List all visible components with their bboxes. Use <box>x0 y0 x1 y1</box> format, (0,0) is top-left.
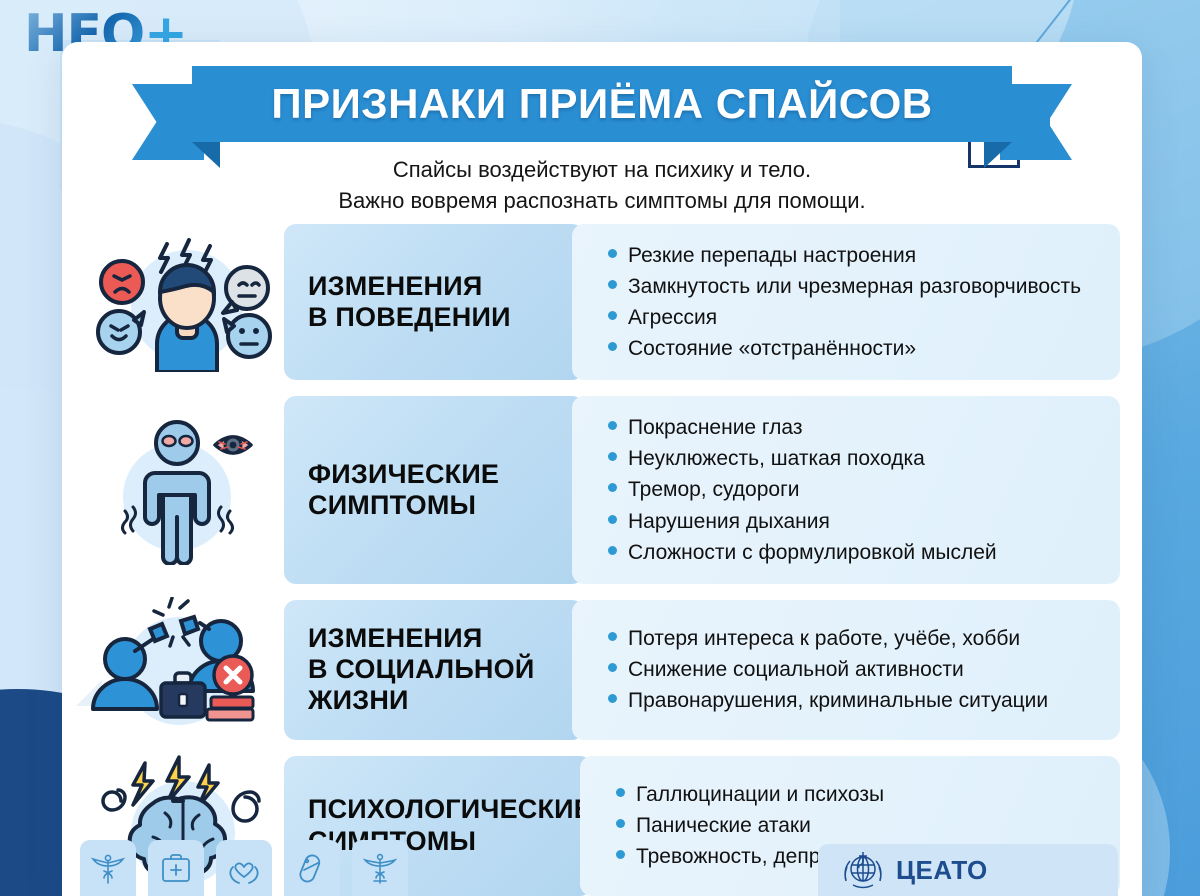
bullet-item: Покраснение глаз <box>608 412 1102 443</box>
bullet-item: Агрессия <box>608 302 1102 333</box>
bullet-text: Снижение социальной активности <box>628 654 964 685</box>
bullet-dot-icon <box>616 819 625 828</box>
bullet-dot-icon <box>608 342 617 351</box>
bullet-item: Состояние «отстранённости» <box>608 333 1102 364</box>
section-label-text: ФИЗИЧЕСКИЕ СИМПТОМЫ <box>308 459 499 522</box>
sections-list: ИЗМЕНЕНИЯ В ПОВЕДЕНИИ Резкие перепады на… <box>84 224 1120 896</box>
bullet-item: Нарушения дыхания <box>608 506 1102 537</box>
bullet-dot-icon <box>608 421 617 430</box>
bullet-dot-icon <box>608 694 617 703</box>
trembling-body-red-eyes-icon <box>84 420 284 560</box>
title-ribbon-wrap: ПРИЗНАКИ ПРИЁМА СПАЙСОВ <box>62 66 1142 142</box>
bullet-text: Правонарушения, криминальные ситуации <box>628 685 1048 716</box>
page-subtitle: Спайсы воздействуют на психику и тело. В… <box>62 154 1142 216</box>
first-aid-kit-icon <box>148 840 204 896</box>
broken-social-ties-icon <box>84 600 284 740</box>
bullet-dot-icon <box>616 788 625 797</box>
bullet-dot-icon <box>608 483 617 492</box>
bullet-dot-icon <box>608 311 617 320</box>
card-footer: ЦЕАТО <box>62 834 1142 896</box>
caduceus-wings-icon <box>352 840 408 896</box>
bullet-text: Агрессия <box>628 302 717 333</box>
caduceus-icon <box>80 840 136 896</box>
infographic-card: ПРИЗНАКИ ПРИЁМА СПАЙСОВ Спайсы воздейств… <box>62 42 1142 896</box>
section-label-text: ИЗМЕНЕНИЯ В СОЦИАЛЬНОЙ ЖИЗНИ <box>308 623 534 717</box>
section-label: ФИЗИЧЕСКИЕ СИМПТОМЫ <box>284 396 584 583</box>
mood-swings-icon <box>84 232 284 372</box>
bullet-item: Сложности с формулировкой мыслей <box>608 537 1102 568</box>
section-row: ИЗМЕНЕНИЯ В СОЦИАЛЬНОЙ ЖИЗНИ Потеря инте… <box>84 600 1120 740</box>
section-row: ИЗМЕНЕНИЯ В ПОВЕДЕНИИ Резкие перепады на… <box>84 224 1120 380</box>
bullet-text: Тремор, судороги <box>628 474 799 505</box>
bullet-dot-icon <box>608 632 617 641</box>
section-bullets: Покраснение глаз Неуклюжесть, шаткая пох… <box>572 396 1120 583</box>
who-brand: ЦЕАТО <box>818 844 1118 896</box>
section-bullets: Потеря интереса к работе, учёбе, хобби С… <box>572 600 1120 740</box>
bullet-text: Неуклюжесть, шаткая походка <box>628 443 925 474</box>
subtitle-line-2: Важно вовремя распознать симптомы для по… <box>62 185 1142 216</box>
bullet-dot-icon <box>608 452 617 461</box>
bullet-item: Потеря интереса к работе, учёбе, хобби <box>608 623 1102 654</box>
bullet-text: Сложности с формулировкой мыслей <box>628 537 997 568</box>
bullet-item: Резкие перепады настроения <box>608 240 1102 271</box>
bullet-item: Снижение социальной активности <box>608 654 1102 685</box>
bullet-item: Тремор, судороги <box>608 474 1102 505</box>
footer-icon-strip <box>80 840 408 896</box>
bullet-text: Покраснение глаз <box>628 412 802 443</box>
subtitle-line-1: Спайсы воздействуют на психику и тело. <box>62 154 1142 185</box>
bullet-dot-icon <box>608 249 617 258</box>
bullet-item: Галлюцинации и психозы <box>616 779 1102 810</box>
bullet-dot-icon <box>608 663 617 672</box>
section-label-text: ИЗМЕНЕНИЯ В ПОВЕДЕНИИ <box>308 271 511 334</box>
section-label: ИЗМЕНЕНИЯ В ПОВЕДЕНИИ <box>284 224 584 380</box>
ribbon-tail-left <box>132 84 204 160</box>
who-globe-emblem-icon <box>840 847 886 893</box>
heart-in-hands-icon <box>216 840 272 896</box>
bullet-dot-icon <box>608 515 617 524</box>
section-row: ФИЗИЧЕСКИЕ СИМПТОМЫ Покраснение глаз Неу… <box>84 396 1120 583</box>
who-brand-text: ЦЕАТО <box>896 855 988 886</box>
ribbon-tail-right <box>1000 84 1072 160</box>
bullet-text: Замкнутость или чрезмерная разговорчивос… <box>628 271 1081 302</box>
bullet-text: Потеря интереса к работе, учёбе, хобби <box>628 623 1020 654</box>
bullet-dot-icon <box>608 546 617 555</box>
title-ribbon: ПРИЗНАКИ ПРИЁМА СПАЙСОВ <box>192 66 1012 142</box>
bullet-text: Нарушения дыхания <box>628 506 830 537</box>
bullet-item: Правонарушения, криминальные ситуации <box>608 685 1102 716</box>
bullet-item: Неуклюжесть, шаткая походка <box>608 443 1102 474</box>
section-bullets: Резкие перепады настроения Замкнутость и… <box>572 224 1120 380</box>
bullet-text: Состояние «отстранённости» <box>628 333 916 364</box>
bullet-text: Галлюцинации и психозы <box>636 779 884 810</box>
bullet-item: Замкнутость или чрезмерная разговорчивос… <box>608 271 1102 302</box>
bullet-dot-icon <box>608 280 617 289</box>
bullet-text: Резкие перепады настроения <box>628 240 916 271</box>
pill-icon <box>284 840 340 896</box>
page-title: ПРИЗНАКИ ПРИЁМА СПАЙСОВ <box>271 80 932 128</box>
section-label: ИЗМЕНЕНИЯ В СОЦИАЛЬНОЙ ЖИЗНИ <box>284 600 584 740</box>
